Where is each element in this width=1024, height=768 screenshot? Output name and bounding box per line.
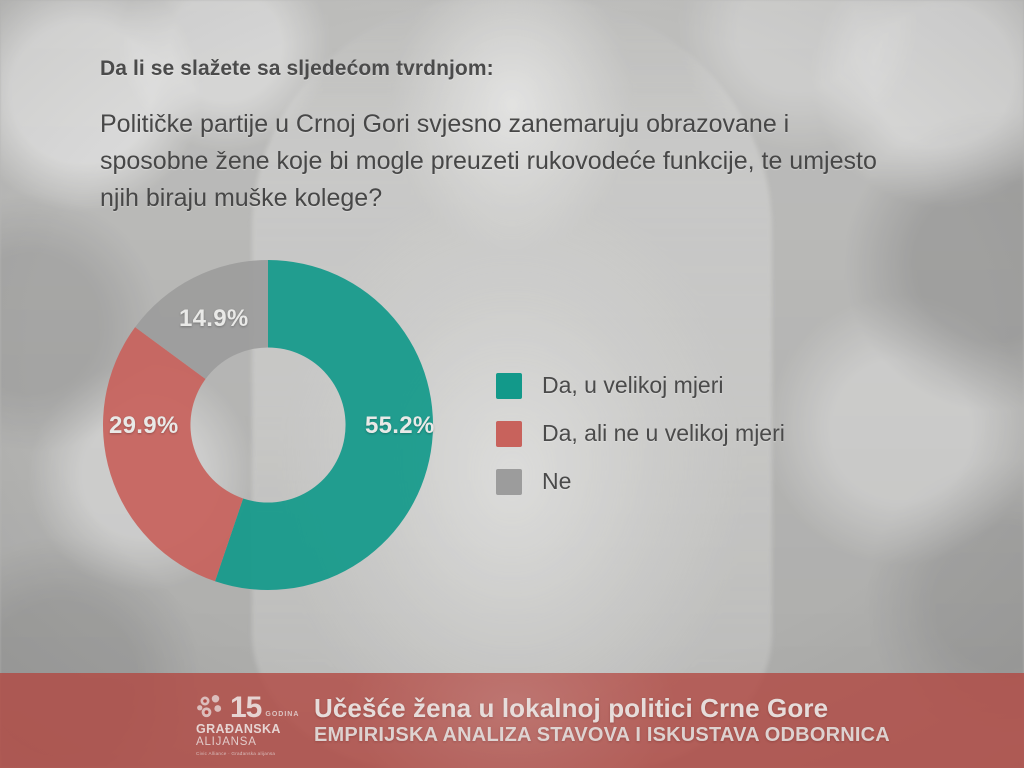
legend-item-1[interactable]: Da, ali ne u velikoj mjeri bbox=[496, 420, 785, 447]
logo-anniversary-caption: GODINA bbox=[265, 711, 299, 722]
logo-top-row: 15 GODINA bbox=[196, 688, 292, 722]
question-lead: Da li se slažete sa sljedećom tvrdnjom: bbox=[100, 56, 920, 82]
legend-item-2[interactable]: Ne bbox=[496, 468, 785, 495]
footer-subtitle: EMPIRIJSKA ANALIZA STAVOVA I ISKUSTAVA O… bbox=[314, 724, 890, 748]
organization-logo: 15 GODINA GRAĐANSKA ALIJANSA Civic Allia… bbox=[196, 688, 292, 754]
legend-swatch-icon-1 bbox=[496, 421, 522, 447]
donut-value-label-2: 14.9% bbox=[179, 305, 249, 333]
footer-band: 15 GODINA GRAĐANSKA ALIJANSA Civic Allia… bbox=[0, 673, 1024, 768]
legend-swatch-icon-0 bbox=[496, 373, 522, 399]
logo-anniversary-number: 15 bbox=[230, 694, 261, 722]
chart-legend: Da, u velikoj mjeri Da, ali ne u velikoj… bbox=[496, 372, 785, 495]
question-statement: Političke partije u Crnoj Gori svjesno z… bbox=[100, 106, 890, 217]
gear-flower-icon bbox=[196, 692, 226, 722]
headline-block: Da li se slažete sa sljedećom tvrdnjom: … bbox=[100, 56, 920, 217]
donut-chart: 55.2% 29.9% 14.9% bbox=[103, 260, 433, 590]
footer-title: Učešće žena u lokalnoj politici Crne Gor… bbox=[314, 694, 890, 723]
legend-swatch-icon-2 bbox=[496, 469, 522, 495]
infographic-canvas: Da li se slažete sa sljedećom tvrdnjom: … bbox=[0, 0, 1024, 768]
legend-label-1: Da, ali ne u velikoj mjeri bbox=[542, 420, 785, 447]
donut-slice-1[interactable] bbox=[103, 327, 243, 581]
logo-org-name-second-line: ALIJANSA bbox=[196, 736, 292, 749]
donut-value-label-1: 29.9% bbox=[109, 412, 179, 440]
logo-tagline: Civic Alliance · Građanska alijansa bbox=[196, 751, 292, 756]
legend-label-2: Ne bbox=[542, 468, 571, 495]
logo-org-name: GRAĐANSKA bbox=[196, 723, 292, 737]
legend-item-0[interactable]: Da, u velikoj mjeri bbox=[496, 372, 785, 399]
footer-content: 15 GODINA GRAĐANSKA ALIJANSA Civic Allia… bbox=[0, 688, 890, 754]
legend-label-0: Da, u velikoj mjeri bbox=[542, 372, 724, 399]
donut-value-label-0: 55.2% bbox=[365, 412, 435, 440]
footer-title-block: Učešće žena u lokalnoj politici Crne Gor… bbox=[314, 694, 890, 748]
